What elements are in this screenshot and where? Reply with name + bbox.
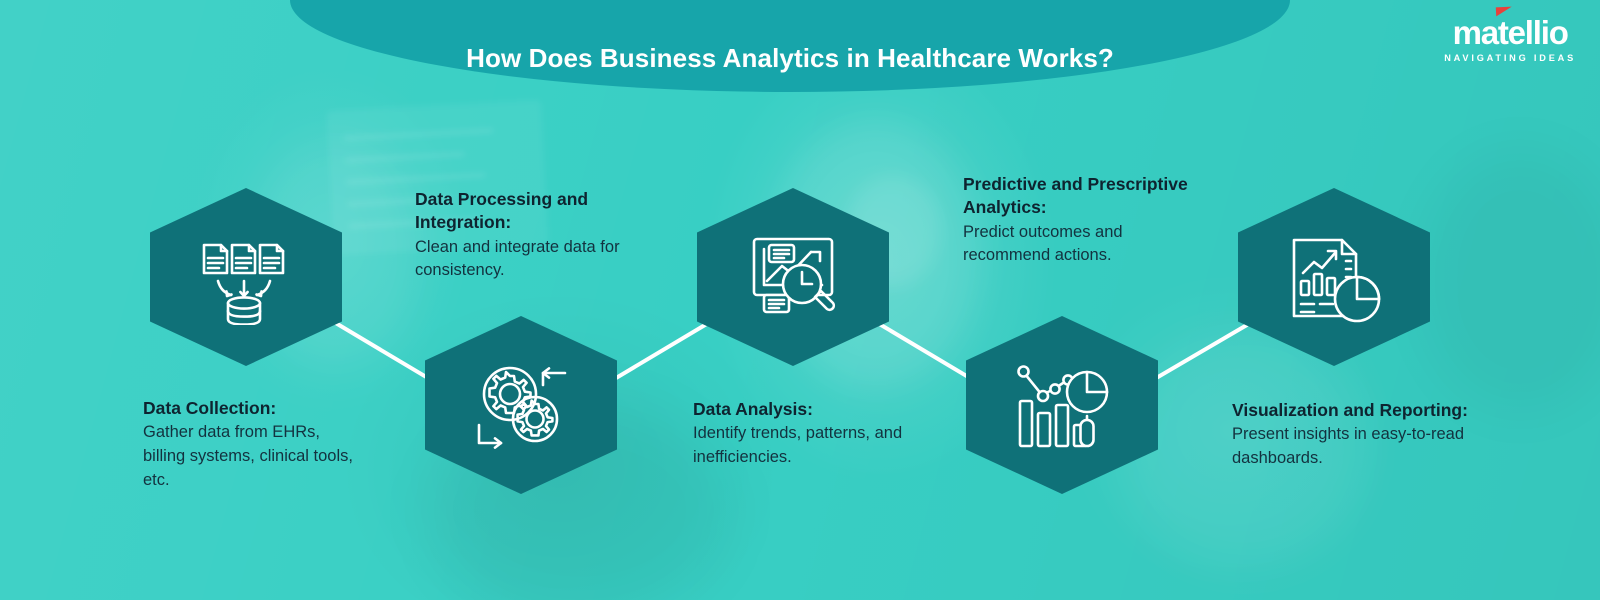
connector-4-5 <box>1146 322 1252 384</box>
header-banner: How Does Business Analytics in Healthcar… <box>290 0 1290 92</box>
connector-3-4 <box>876 322 980 384</box>
step-2-text-block: Data Processing and Integration: Clean a… <box>415 188 647 283</box>
step-4-text-block: Predictive and Prescriptive Analytics: P… <box>963 173 1195 268</box>
page-title: How Does Business Analytics in Healthcar… <box>290 43 1290 74</box>
connector-1-2 <box>334 322 438 384</box>
step-1-description: Gather data from EHRs, billing systems, … <box>143 421 358 493</box>
logo-wordmark: matellio <box>1444 16 1576 49</box>
documents-to-database-icon <box>198 229 294 325</box>
step-1-hexagon[interactable] <box>150 188 342 366</box>
step-2-hexagon[interactable] <box>425 316 617 494</box>
logo-text: matellio <box>1453 14 1568 51</box>
step-2-title: Data Processing and Integration: <box>415 188 647 235</box>
gears-process-icon <box>473 357 569 453</box>
bar-chart-pie-magnifier-icon <box>1014 357 1110 453</box>
step-4-description: Predict outcomes and recommend actions. <box>963 221 1195 269</box>
background-blob <box>1420 150 1600 410</box>
step-5-text-block: Visualization and Reporting: Present ins… <box>1232 399 1472 471</box>
step-4-hexagon[interactable] <box>966 316 1158 494</box>
logo-tagline: NAVIGATING IDEAS <box>1444 53 1576 63</box>
step-4-title: Predictive and Prescriptive Analytics: <box>963 173 1195 220</box>
logo-flag-icon <box>1496 7 1512 17</box>
chart-board-magnifier-icon <box>745 229 841 325</box>
step-1-title: Data Collection: <box>143 397 358 420</box>
step-3-hexagon[interactable] <box>697 188 889 366</box>
step-3-title: Data Analysis: <box>693 398 915 421</box>
report-pie-chart-icon <box>1286 229 1382 325</box>
step-5-description: Present insights in easy-to-read dashboa… <box>1232 423 1472 471</box>
step-3-description: Identify trends, patterns, and inefficie… <box>693 422 915 470</box>
step-2-description: Clean and integrate data for consistency… <box>415 236 647 284</box>
connector-2-3 <box>606 322 710 384</box>
step-5-title: Visualization and Reporting: <box>1232 399 1472 422</box>
step-3-text-block: Data Analysis: Identify trends, patterns… <box>693 398 915 470</box>
brand-logo[interactable]: matellio NAVIGATING IDEAS <box>1444 16 1576 63</box>
step-1-text-block: Data Collection: Gather data from EHRs, … <box>143 397 358 493</box>
step-5-hexagon[interactable] <box>1238 188 1430 366</box>
infographic-canvas: How Does Business Analytics in Healthcar… <box>0 0 1600 600</box>
